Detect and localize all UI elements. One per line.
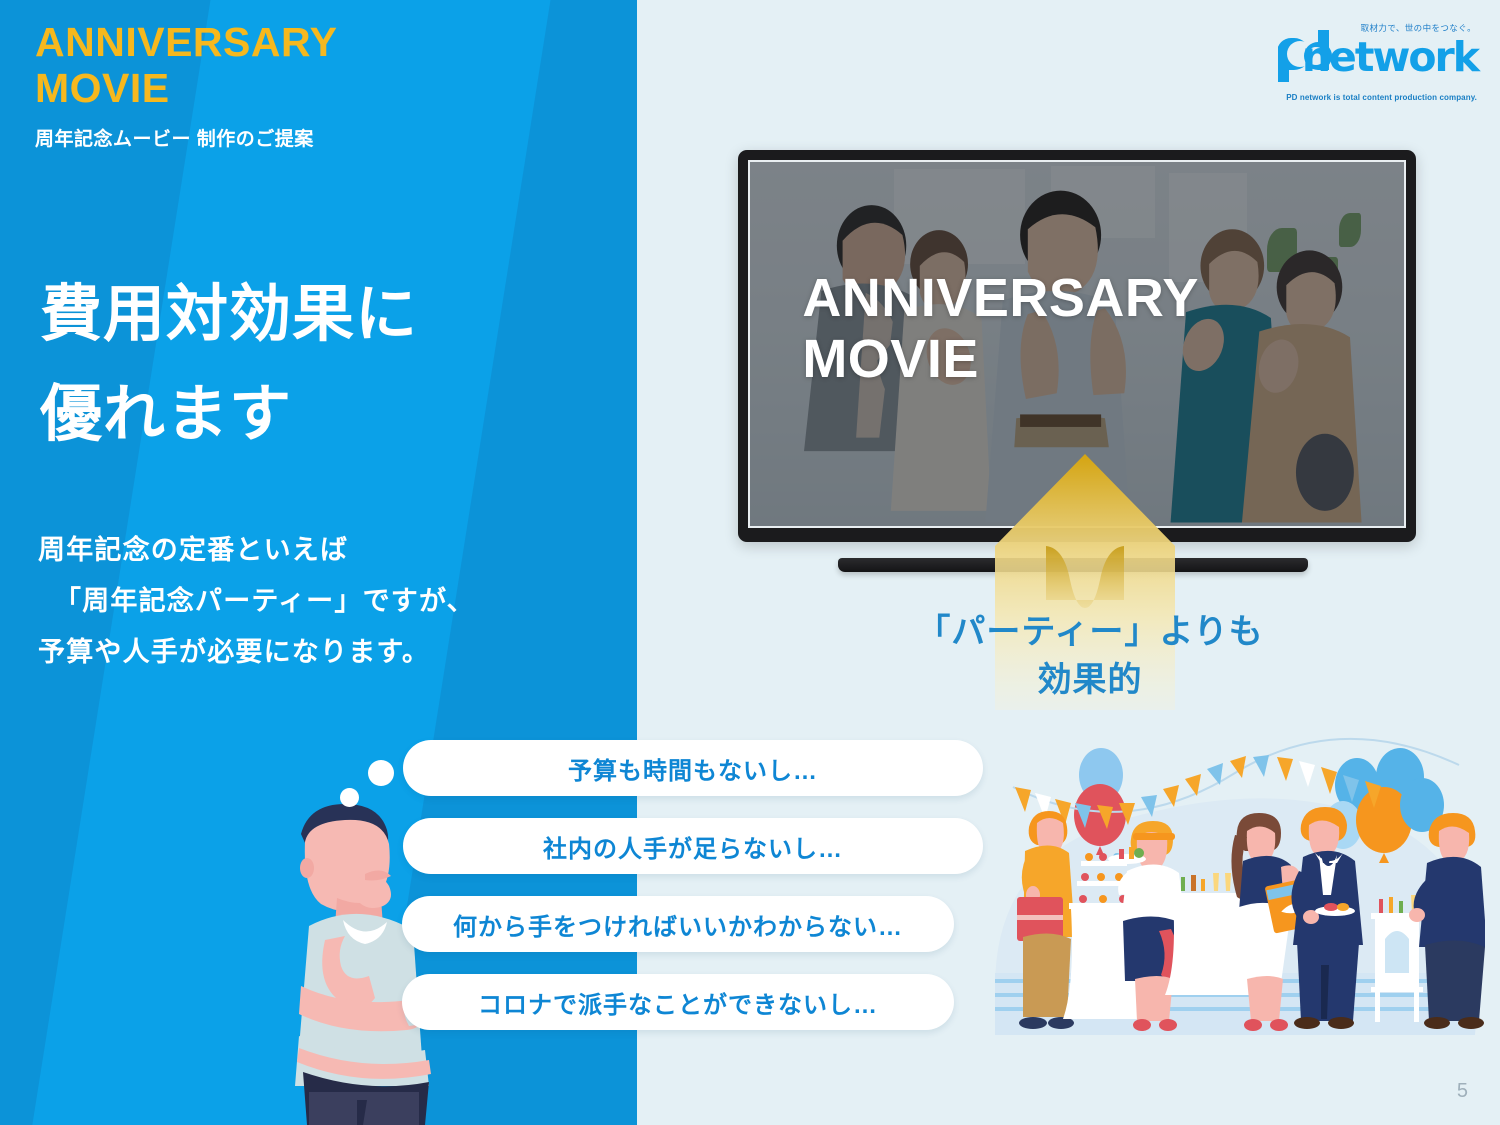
headline-line2: 優れます [40, 365, 418, 465]
party-scene-icon [985, 735, 1485, 1055]
logo-footer-text: PD network is total content production c… [1286, 93, 1477, 102]
tv-overlay-line2: MOVIE [802, 329, 1199, 390]
pd-network-logo: 取材力で、世の中をつなぐ。 network PD network is tota… [1278, 22, 1478, 100]
thought-bubble-4[interactable]: コロナで派手なことができないし… [402, 974, 954, 1030]
tv-overlay-line1: ANNIVERSARY [802, 268, 1199, 329]
thought-bubble-3[interactable]: 何から手をつければいいかわからない… [402, 896, 954, 952]
caption-line1: 「パーティー」よりも [860, 608, 1320, 656]
body-line3: 予算や人手が必要になります。 [38, 627, 475, 678]
thought-bubble-2[interactable]: 社内の人手が足らないし… [403, 818, 983, 874]
header-subtitle: 周年記念ムービー 制作のご提案 [35, 124, 337, 151]
thought-bubble-list: 予算も時間もないし… 社内の人手が足らないし… 何から手をつければいいかわからな… [390, 740, 983, 1052]
header-title-line2: MOVIE [35, 66, 337, 112]
slide-header: ANNIVERSARY MOVIE 周年記念ムービー 制作のご提案 [35, 20, 337, 151]
logo-wordmark: network [1302, 33, 1478, 81]
thought-dot-large [368, 760, 394, 786]
header-title: ANNIVERSARY MOVIE [35, 20, 337, 112]
slide-root: ANNIVERSARY MOVIE 周年記念ムービー 制作のご提案 取材力で、世… [0, 0, 1500, 1125]
page-number: 5 [1457, 1080, 1468, 1103]
body-line1: 周年記念の定番といえば [38, 525, 475, 576]
headline: 費用対効果に 優れます [40, 265, 418, 466]
effectiveness-caption: 「パーティー」よりも 効果的 [860, 608, 1320, 705]
headline-line1: 費用対効果に [40, 265, 418, 365]
thought-bubble-1[interactable]: 予算も時間もないし… [403, 740, 983, 796]
body-line2: 「周年記念パーティー」ですが、 [38, 576, 475, 627]
thought-dot-small [340, 788, 359, 807]
caption-line2: 効果的 [860, 656, 1320, 704]
party-illustration [985, 735, 1485, 1055]
header-title-line1: ANNIVERSARY [35, 20, 337, 66]
body-copy: 周年記念の定番といえば 「周年記念パーティー」ですが、 予算や人手が必要になりま… [38, 525, 475, 677]
tv-overlay-text: ANNIVERSARY MOVIE [802, 268, 1199, 390]
